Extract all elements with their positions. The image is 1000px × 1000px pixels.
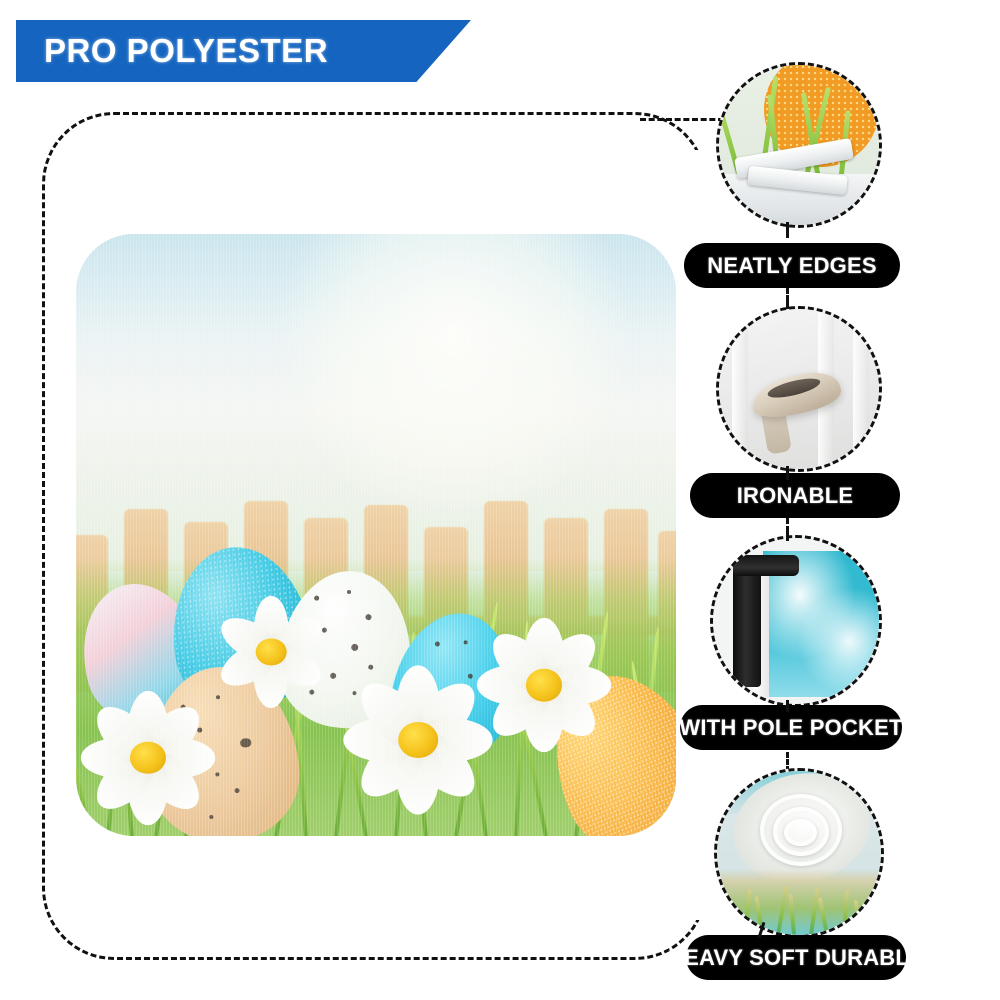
feature-label-neatly-edges: NEATLY EDGES bbox=[684, 243, 900, 288]
tick-mark bbox=[786, 527, 789, 541]
feature-label-text: NEATLY EDGES bbox=[707, 253, 876, 279]
tick-mark bbox=[786, 295, 789, 309]
feature-image-neatly-edges[interactable] bbox=[716, 62, 882, 228]
pole-pocket-icon bbox=[713, 538, 879, 704]
tick-mark bbox=[786, 222, 789, 238]
feature-label-pole-pocket: WITH POLE POCKET bbox=[680, 705, 902, 750]
feature-label-text: WITH POLE POCKET bbox=[679, 715, 902, 741]
feature-label-ironable: IRONABLE bbox=[690, 473, 900, 518]
banner-title: PRO POLYESTER bbox=[16, 32, 328, 70]
feature-image-pole-pocket[interactable] bbox=[710, 535, 882, 707]
feature-image-heavy-soft-durable[interactable] bbox=[714, 768, 884, 938]
tick-mark bbox=[786, 700, 789, 712]
daisy-flower bbox=[220, 607, 322, 697]
feature-label-text: HEAVY SOFT DURABLE bbox=[668, 945, 924, 971]
daisy-flower bbox=[484, 631, 604, 739]
iron-icon bbox=[719, 309, 879, 469]
rolled-fabric-icon bbox=[717, 771, 881, 935]
fabric-hem-icon bbox=[719, 65, 879, 225]
header-banner: PRO POLYESTER bbox=[16, 20, 471, 82]
feature-image-ironable[interactable] bbox=[716, 306, 882, 472]
main-product-image[interactable] bbox=[76, 234, 676, 836]
daisy-flower bbox=[88, 704, 208, 812]
feature-label-heavy-soft-durable: HEAVY SOFT DURABLE bbox=[686, 935, 906, 980]
daisy-flower bbox=[352, 679, 484, 799]
feature-label-text: IRONABLE bbox=[737, 483, 854, 509]
tick-mark bbox=[786, 466, 789, 480]
infographic-canvas: PRO POLYESTER bbox=[0, 0, 1000, 1000]
product-photo-art bbox=[76, 234, 676, 836]
